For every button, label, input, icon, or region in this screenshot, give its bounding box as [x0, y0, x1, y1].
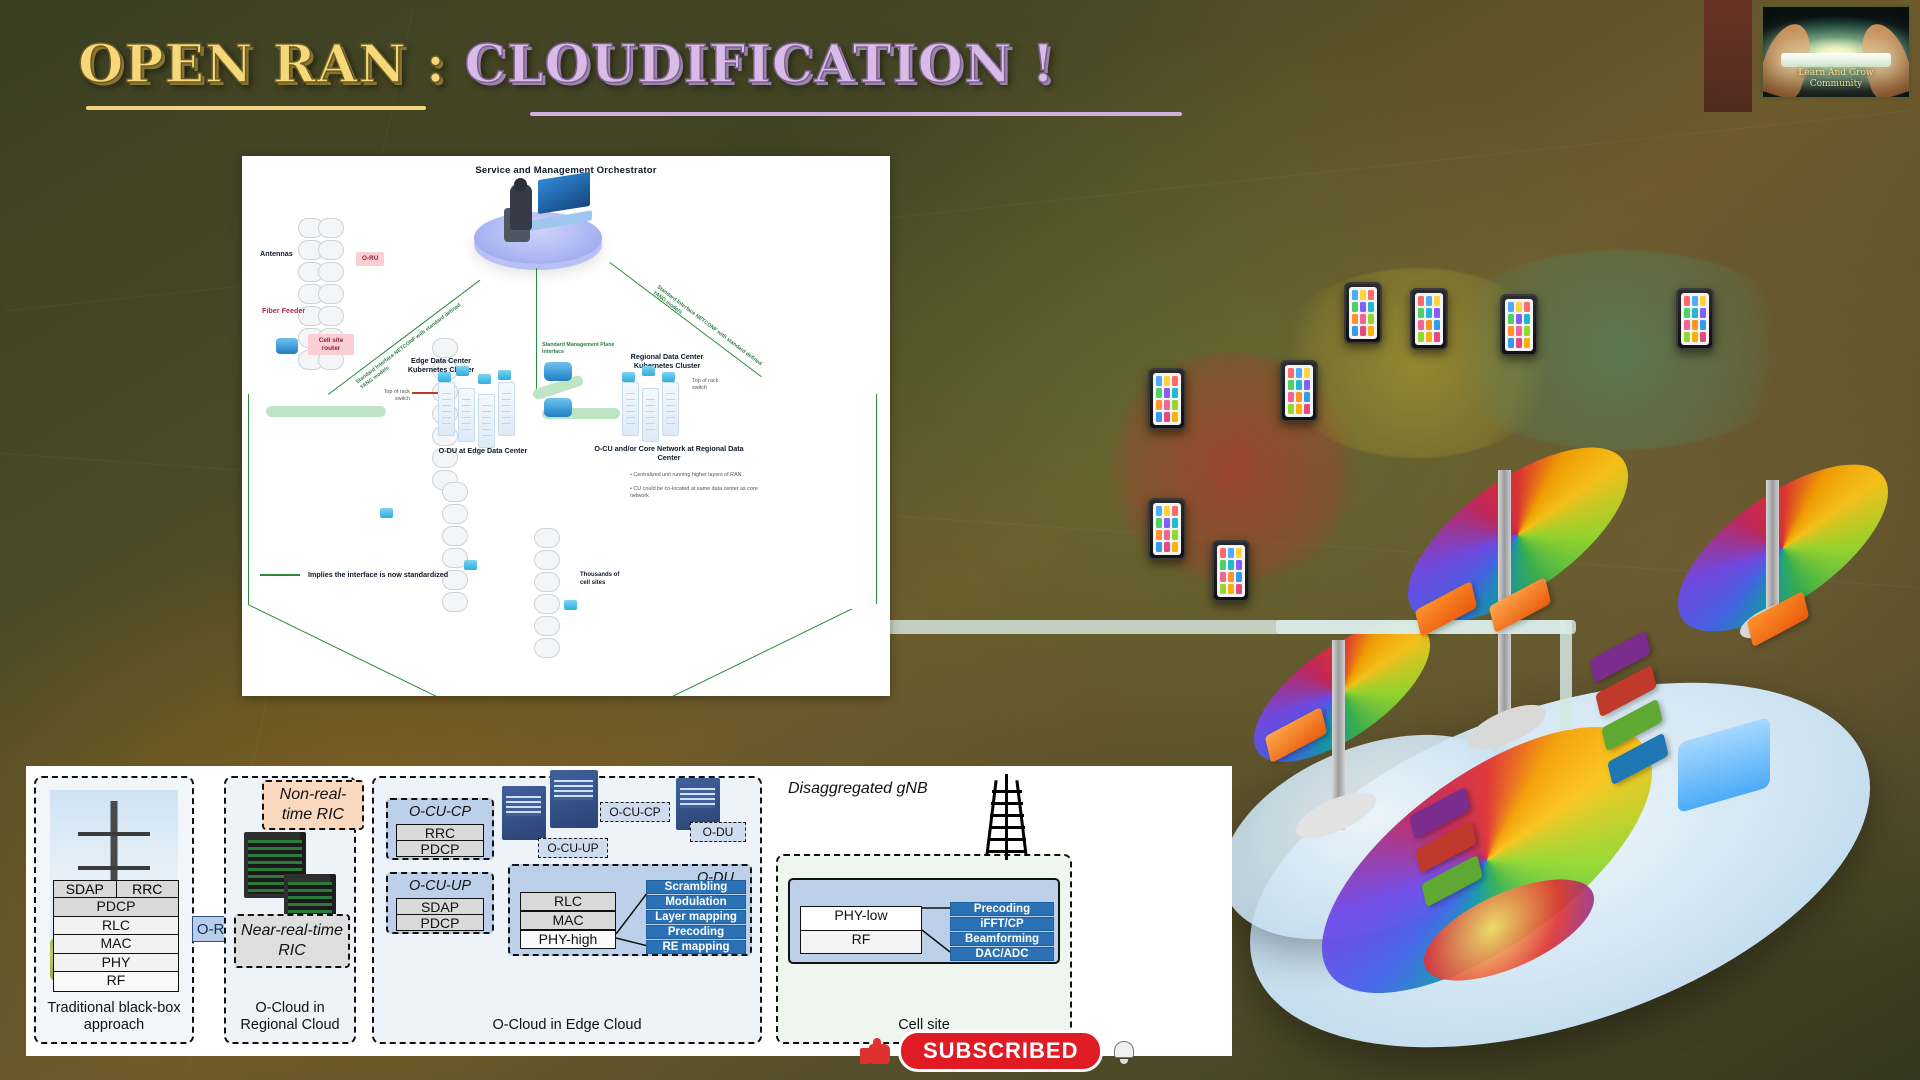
- connector-bar: [1560, 620, 1572, 730]
- label-thousands-of-cell-sites: Thousands of cell sites: [580, 572, 628, 587]
- device-phone: [1280, 360, 1318, 422]
- title-part-2: CLOUDIFICATION !: [465, 38, 1056, 93]
- label-antennas: Antennas: [260, 249, 293, 258]
- cell-site-function-ifft-cp: iFFT/CP: [950, 917, 1054, 931]
- brand-side-bar: [1704, 0, 1752, 112]
- interface-line-center: [536, 268, 537, 398]
- bullet-2-text: CU could be co-located at same data cent…: [630, 486, 758, 499]
- o-cu-up-title: O-CU-UP: [388, 878, 492, 894]
- kubernetes-node-icon: [662, 372, 675, 382]
- bell-icon[interactable]: [1111, 1038, 1137, 1064]
- link-pipe: [266, 406, 386, 417]
- device-phone: [1500, 294, 1538, 356]
- rack-server: [662, 382, 679, 436]
- polygon-edge: [582, 608, 852, 696]
- disaggregation-panel: Traditional black-box approach SDAP RRC …: [26, 766, 1232, 1056]
- o-du-function-scrambling: Scrambling: [646, 880, 746, 894]
- thumbs-up-icon: [860, 1038, 890, 1064]
- o-cu-cp-title: O-CU-CP: [388, 804, 492, 820]
- o-du-connector-lines: [614, 888, 650, 952]
- legend-swatch: [260, 574, 300, 576]
- diagram-title: Service and Management Orchestrator: [242, 165, 890, 176]
- o-cu-cp-row-pdcp: PDCP: [396, 840, 484, 857]
- router-icon: [544, 398, 572, 417]
- cell-site-stack: PHY-low RF: [800, 906, 922, 954]
- rack-server: [642, 388, 659, 442]
- near-real-time-ric: Near-real-time RIC: [234, 914, 350, 968]
- label-fiber-feeder: Fiber Feeder: [262, 306, 305, 315]
- rack-server: [478, 394, 495, 448]
- gnb-tower-icon: [978, 774, 1034, 856]
- device-phone: [1344, 282, 1382, 344]
- cell-site-connector-lines: [920, 902, 952, 962]
- subscribed-button[interactable]: SUBSCRIBED: [898, 1030, 1103, 1072]
- legend-label: Implies the interface is now standardize…: [308, 570, 448, 579]
- o-cu-cp-row-rrc: RRC: [396, 824, 484, 841]
- cell-site-row-rf: RF: [801, 931, 921, 953]
- stack-cell-rf: RF: [54, 972, 178, 990]
- o-cu-up-box: O-CU-UP SDAP PDCP: [386, 872, 494, 934]
- rack-server: [438, 382, 455, 436]
- section-caption-edge: O-Cloud in Edge Cloud: [374, 1017, 760, 1034]
- label-ocu-caption: O-CU and/or Core Network at Regional Dat…: [594, 444, 744, 462]
- label-top-of-rack-switch-2: Top of rack switch: [692, 378, 728, 393]
- cell-site-box: PHY-low RF Precoding iFFT/CP Beamforming…: [788, 878, 1060, 964]
- bullet-1-text: Centralized unit running higher layers o…: [633, 472, 741, 478]
- title-underline-gold: [86, 106, 426, 110]
- label-regional-data-center: Regional Data Center Kubernetes Cluster: [612, 352, 722, 370]
- o-cu-up-row-sdap: SDAP: [396, 898, 484, 915]
- cell-site-row-phy-low: PHY-low: [801, 907, 921, 931]
- cell-site-function-beamforming: Beamforming: [950, 932, 1054, 946]
- server-o-cu-cp-icon: [550, 770, 598, 828]
- stack-cell-mac: MAC: [54, 935, 178, 954]
- tag-o-du: O-DU: [690, 822, 746, 842]
- badge-o-ru: O-RU: [356, 252, 384, 266]
- kubernetes-node-icon: [438, 372, 451, 382]
- device-phone: [1212, 540, 1250, 602]
- o-du-row-rlc: RLC: [520, 892, 616, 911]
- traditional-protocol-stack: SDAP RRC PDCP RLC MAC PHY RF: [53, 880, 179, 992]
- tag-o-cu-up: O-CU-UP: [538, 838, 608, 858]
- kubernetes-node-icon: [642, 366, 655, 376]
- stack-cell-rrc: RRC: [117, 881, 179, 897]
- label-odu-caption: O-DU at Edge Data Center: [418, 446, 548, 455]
- glowing-book-icon: [1781, 53, 1891, 67]
- o-du-row-mac: MAC: [520, 911, 616, 930]
- brand-line-2: Community: [1763, 79, 1909, 89]
- stack-cell-rlc: RLC: [54, 917, 178, 936]
- stack-cell-pdcp: PDCP: [54, 898, 178, 917]
- o-cu-cp-box: O-CU-CP RRC PDCP: [386, 798, 494, 860]
- disaggregated-gnb-heading: Disaggregated gNB: [788, 780, 968, 798]
- device-phone: [1148, 498, 1186, 560]
- title-underline-lilac: [530, 112, 1182, 116]
- antenna-tower: [534, 528, 560, 660]
- device-phone: [1410, 288, 1448, 350]
- kubernetes-node-icon: [622, 372, 635, 382]
- antenna-tower: [442, 482, 468, 614]
- slide-canvas: OPEN RAN : CLOUDIFICATION ! Learn And Gr…: [0, 0, 1920, 1080]
- operator-head-icon: [514, 178, 527, 191]
- cell-site-router-icon: [564, 600, 577, 610]
- o-du-box: O-DU RLC MAC PHY-high Scrambling Modulat…: [508, 864, 752, 956]
- bullet-2: • CU could be co-located at same data ce…: [630, 486, 770, 501]
- monitor-icon: [538, 172, 590, 214]
- router-icon: [544, 362, 572, 381]
- subscribe-overlay[interactable]: SUBSCRIBED: [860, 1030, 1137, 1072]
- cell-site-router-icon: [464, 560, 477, 570]
- tower-arm: [78, 866, 150, 870]
- server-o-cu-up-icon: [502, 786, 546, 840]
- device-phone: [1148, 368, 1186, 430]
- cell-site-function-precoding: Precoding: [950, 902, 1054, 916]
- badge-cell-site-router: Cell site router: [308, 334, 354, 355]
- kubernetes-node-icon: [456, 366, 469, 376]
- section-caption-traditional: Traditional black-box approach: [36, 1000, 192, 1034]
- o-du-function-re-mapping: RE mapping: [646, 940, 746, 954]
- cell-site-function-dac-adc: DAC/ADC: [950, 947, 1054, 961]
- link-pipe: [568, 408, 620, 419]
- router-icon: [276, 338, 298, 354]
- title-part-1: OPEN RAN :: [78, 38, 446, 93]
- tag-o-cu-cp: O-CU-CP: [600, 802, 670, 822]
- section-caption-regional: O-Cloud in Regional Cloud: [226, 1000, 354, 1034]
- rack-server: [458, 388, 475, 442]
- label-top-of-rack-switch-1: Top of rack switch: [374, 389, 410, 404]
- oran-cloudification-diagram: Service and Management Orchestrator Ante…: [242, 156, 890, 696]
- non-real-time-ric: Non-real-time RIC: [262, 780, 364, 830]
- pointer-line: [412, 392, 438, 394]
- tower-arm: [78, 832, 150, 836]
- page-title: OPEN RAN : CLOUDIFICATION !: [78, 38, 1055, 93]
- stack-cell-phy: PHY: [54, 954, 178, 973]
- device-phone: [1676, 288, 1714, 350]
- coverage-blob-green: [1430, 250, 1810, 450]
- rack-server: [622, 382, 639, 436]
- polygon-edge: [876, 394, 877, 604]
- polygon-edge: [247, 604, 517, 696]
- o-du-function-modulation: Modulation: [646, 895, 746, 909]
- o-du-row-phy-high: PHY-high: [520, 930, 616, 949]
- brand-logo: Learn And Grow Community: [1760, 4, 1912, 100]
- kubernetes-node-icon: [498, 370, 511, 380]
- o-du-function-layer-mapping: Layer mapping: [646, 910, 746, 924]
- polygon-edge: [248, 394, 249, 604]
- o-cu-up-row-pdcp: PDCP: [396, 914, 484, 931]
- stack-cell-sdap: SDAP: [54, 881, 117, 897]
- o-du-function-precoding: Precoding: [646, 925, 746, 939]
- cell-site-router-icon: [380, 508, 393, 518]
- kubernetes-node-icon: [478, 374, 491, 384]
- bullet-1: • Centralized unit running higher layers…: [630, 472, 770, 479]
- rack-server: [498, 382, 515, 436]
- brand-line-1: Learn And Grow: [1763, 68, 1909, 78]
